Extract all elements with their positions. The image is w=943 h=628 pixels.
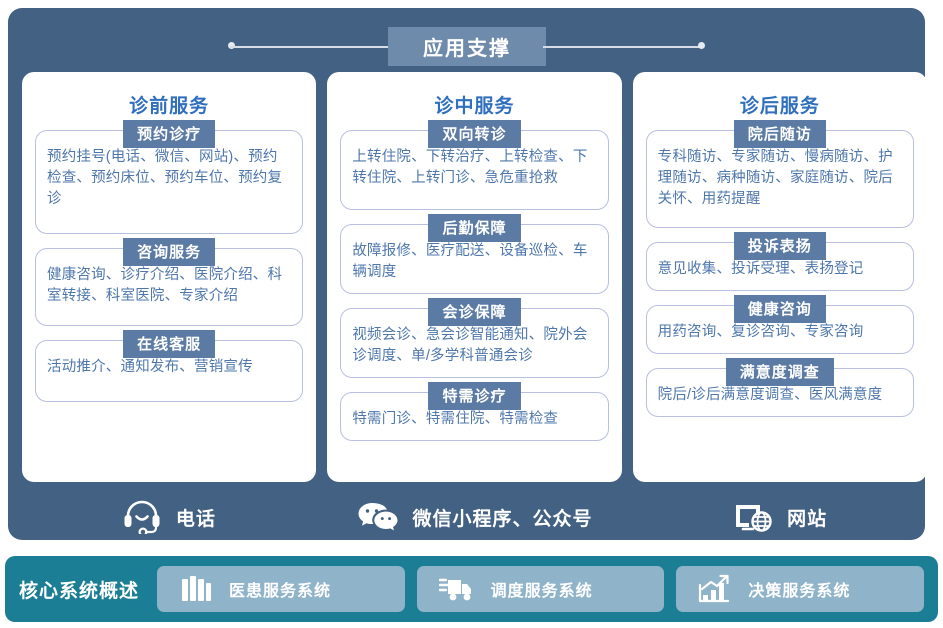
service-group[interactable]: 后勤保障 故障报修、医疗配送、设备巡检、车辆调度 [340,224,608,294]
infographic-root: 应用支撑 诊前服务 预约诊疗 预约挂号(电话、微信、网站)、预约检查、预约床位、… [0,0,943,628]
group-body: 健康咨询、诊疗介绍、医院介绍、科室转接、科室医院、专家介绍 [47,265,291,307]
channel-row: 电话 微信小程序、公众号 [16,490,933,544]
panel-header: 应用支撑 [8,16,925,62]
service-columns: 诊前服务 预约诊疗 预约挂号(电话、微信、网站)、预约检查、预约床位、预约车位、… [16,72,933,482]
truck-icon [439,574,475,604]
channel-website[interactable]: 网站 [627,501,933,533]
panel-title-badge: 应用支撑 [388,27,546,66]
group-badge: 会诊保障 [428,298,520,326]
group-badge: 特需诊疗 [428,382,520,410]
system-card-label: 医患服务系统 [229,577,331,601]
group-badge: 投诉表扬 [734,232,826,260]
group-body: 院后/诊后满意度调查、医风满意度 [658,385,902,406]
service-group[interactable]: 双向转诊 上转住院、下转治疗、上转检查、下转住院、上转门诊、急危重抢救 [340,130,608,210]
header-line-right [543,46,703,48]
chart-arrow-icon [698,574,732,604]
core-systems-title: 核心系统概述 [19,576,139,603]
channel-label: 网站 [787,504,827,531]
column-groups: 院后随访 专科随访、专家随访、慢病随访、护理随访、病种随访、家庭随访、院后关怀、… [646,130,914,472]
group-body: 专科随访、专家随访、慢病随访、护理随访、病种随访、家庭随访、院后关怀、用药提醒 [658,147,902,210]
core-systems-bar: 核心系统概述 医患服务系统 [5,556,938,622]
group-badge: 满意度调查 [726,358,834,386]
system-card-patient-service[interactable]: 医患服务系统 [157,566,405,612]
system-card-decision-service[interactable]: 决策服务系统 [676,566,924,612]
wechat-icon [357,501,399,533]
group-body: 活动推介、通知发布、营销宣传 [47,357,291,378]
column-title: 诊后服务 [646,91,914,118]
channel-phone[interactable]: 电话 [16,500,322,534]
service-group[interactable]: 投诉表扬 意见收集、投诉受理、表扬登记 [646,242,914,291]
column-during-visit: 诊中服务 双向转诊 上转住院、下转治疗、上转检查、下转住院、上转门诊、急危重抢救… [327,72,621,482]
group-body: 用药咨询、复诊咨询、专家咨询 [658,322,902,343]
building-icon [179,574,213,604]
group-body: 意见收集、投诉受理、表扬登记 [658,259,902,280]
column-title: 诊中服务 [340,91,608,118]
group-badge: 健康咨询 [734,295,826,323]
service-group[interactable]: 会诊保障 视频会诊、急会诊智能通知、院外会诊调度、单/多学科普通会诊 [340,308,608,378]
column-pre-visit: 诊前服务 预约诊疗 预约挂号(电话、微信、网站)、预约检查、预约床位、预约车位、… [22,72,316,482]
system-card-label: 决策服务系统 [748,577,850,601]
channel-label: 微信小程序、公众号 [413,504,593,531]
website-icon [733,501,773,533]
headset-icon [122,500,162,534]
group-body: 上转住院、下转治疗、上转检查、下转住院、上转门诊、急危重抢救 [352,147,596,189]
channel-wechat[interactable]: 微信小程序、公众号 [322,501,628,533]
service-group[interactable]: 院后随访 专科随访、专家随访、慢病随访、护理随访、病种随访、家庭随访、院后关怀、… [646,130,914,228]
group-body: 特需门诊、特需住院、特需检查 [352,409,596,430]
column-title: 诊前服务 [35,91,303,118]
service-group[interactable]: 预约诊疗 预约挂号(电话、微信、网站)、预约检查、预约床位、预约车位、预约复诊 [35,130,303,234]
column-groups: 双向转诊 上转住院、下转治疗、上转检查、下转住院、上转门诊、急危重抢救 后勤保障… [340,130,608,472]
application-support-panel: 应用支撑 诊前服务 预约诊疗 预约挂号(电话、微信、网站)、预约检查、预约床位、… [8,8,925,540]
column-post-visit: 诊后服务 院后随访 专科随访、专家随访、慢病随访、护理随访、病种随访、家庭随访、… [633,72,927,482]
group-badge: 院后随访 [734,120,826,148]
column-groups: 预约诊疗 预约挂号(电话、微信、网站)、预约检查、预约床位、预约车位、预约复诊 … [35,130,303,472]
group-badge: 双向转诊 [428,120,520,148]
service-group[interactable]: 特需诊疗 特需门诊、特需住院、特需检查 [340,392,608,441]
group-body: 故障报修、医疗配送、设备巡检、车辆调度 [352,241,596,283]
service-group[interactable]: 满意度调查 院后/诊后满意度调查、医风满意度 [646,368,914,417]
header-line-left [230,46,390,48]
system-card-dispatch-service[interactable]: 调度服务系统 [417,566,665,612]
group-badge: 预约诊疗 [123,120,215,148]
system-card-label: 调度服务系统 [491,577,593,601]
service-group[interactable]: 健康咨询 用药咨询、复诊咨询、专家咨询 [646,305,914,354]
group-badge: 在线客服 [123,330,215,358]
service-group[interactable]: 咨询服务 健康咨询、诊疗介绍、医院介绍、科室转接、科室医院、专家介绍 [35,248,303,326]
group-body: 视频会诊、急会诊智能通知、院外会诊调度、单/多学科普通会诊 [352,325,596,367]
channel-label: 电话 [176,504,216,531]
group-body: 预约挂号(电话、微信、网站)、预约检查、预约床位、预约车位、预约复诊 [47,147,291,210]
header-dot-right [698,42,705,49]
service-group[interactable]: 在线客服 活动推介、通知发布、营销宣传 [35,340,303,402]
group-badge: 后勤保障 [428,214,520,242]
group-badge: 咨询服务 [123,238,215,266]
